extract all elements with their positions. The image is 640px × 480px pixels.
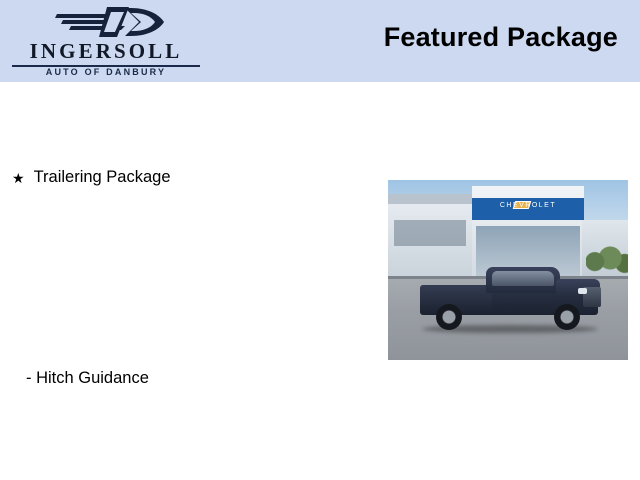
truck-front-wheel bbox=[554, 304, 580, 330]
dealer-subtitle: AUTO OF DANBURY bbox=[10, 67, 202, 77]
feature-subitem-label: - Hitch Guidance bbox=[26, 369, 149, 388]
truck-windows bbox=[492, 271, 554, 286]
truck-headlight bbox=[578, 288, 587, 294]
dealer-name: INGERSOLL bbox=[10, 39, 202, 64]
vehicle-photo: CHEVROLET bbox=[388, 180, 628, 360]
page-title: Featured Package bbox=[384, 22, 618, 53]
photo-truck bbox=[412, 259, 606, 337]
header-band: INGERSOLL AUTO OF DANBURY Featured Packa… bbox=[0, 0, 640, 82]
wing-emblem-icon bbox=[55, 5, 165, 39]
truck-rear-wheel bbox=[436, 304, 462, 330]
feature-bullet-label: Trailering Package bbox=[34, 168, 171, 187]
feature-bullet-row: ★ Trailering Package bbox=[12, 168, 171, 187]
star-bullet-icon: ★ bbox=[12, 171, 25, 185]
dealer-logo: INGERSOLL AUTO OF DANBURY bbox=[10, 3, 202, 79]
photo-dealer-sign-text: CHEVROLET bbox=[472, 202, 584, 209]
photo-building-left-window bbox=[394, 220, 466, 246]
slide-page: INGERSOLL AUTO OF DANBURY Featured Packa… bbox=[0, 0, 640, 480]
photo-building-left-roof bbox=[388, 194, 474, 204]
